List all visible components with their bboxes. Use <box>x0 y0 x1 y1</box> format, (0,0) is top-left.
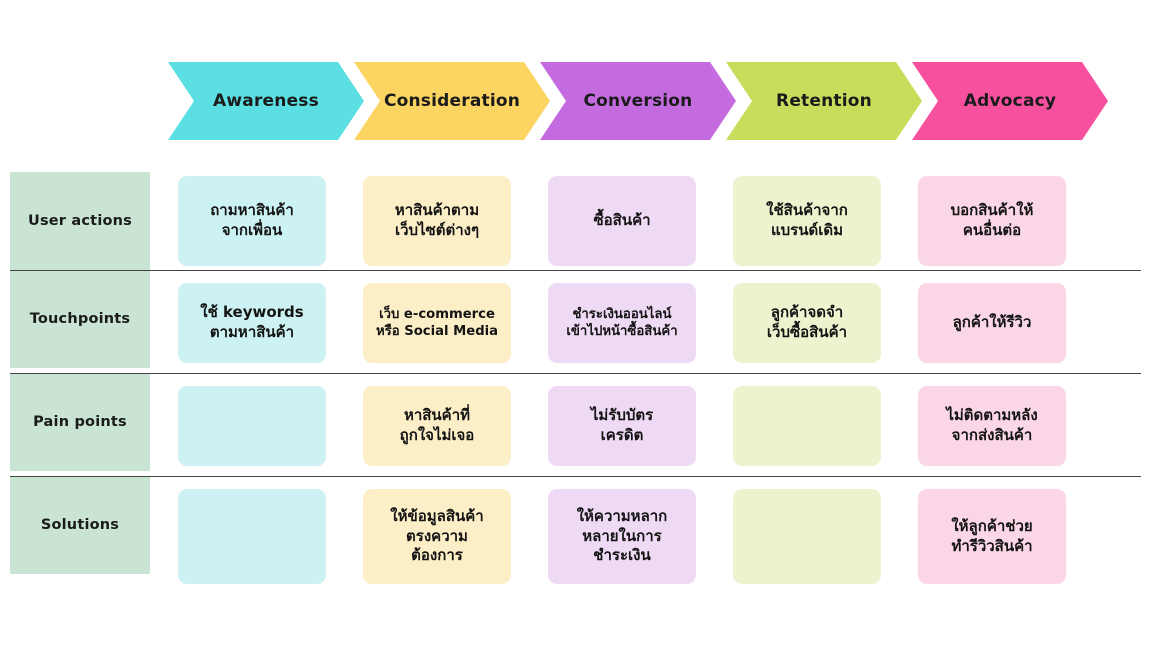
row-label-pain-points[interactable]: Pain points <box>10 373 150 471</box>
cell-solutions-awareness[interactable] <box>178 489 326 584</box>
cell-touchpoints-consideration[interactable]: เว็บ e-commerce หรือ Social Media <box>363 283 511 363</box>
cell-touchpoints-awareness[interactable]: ใช้ keywords ตามหาสินค้า <box>178 283 326 363</box>
stage-chevron-consideration[interactable]: Consideration <box>354 62 550 140</box>
stage-chevron-retention[interactable]: Retention <box>726 62 922 140</box>
stage-label: Awareness <box>213 91 319 111</box>
cell-text: ชำระเงินออนไลน์ เข้าไปหน้าซื้อสินค้า <box>566 306 677 341</box>
stage-label: Consideration <box>384 91 520 111</box>
cell-pain-points-consideration[interactable]: หาสินค้าที่ ถูกใจไม่เจอ <box>363 386 511 466</box>
cell-pain-points-conversion[interactable]: ไม่รับบัตร เครดิต <box>548 386 696 466</box>
stage-label: Advocacy <box>964 91 1056 111</box>
row-label-touchpoints[interactable]: Touchpoints <box>10 270 150 368</box>
cell-text: ใช้สินค้าจาก แบรนด์เดิม <box>766 201 848 241</box>
cell-pain-points-awareness[interactable] <box>178 386 326 466</box>
row-label-user-actions[interactable]: User actions <box>10 172 150 270</box>
cell-user-actions-awareness[interactable]: ถามหาสินค้า จากเพื่อน <box>178 176 326 266</box>
cell-solutions-retention[interactable] <box>733 489 881 584</box>
stage-chevron-awareness[interactable]: Awareness <box>168 62 364 140</box>
cell-user-actions-advocacy[interactable]: บอกสินค้าให้ คนอื่นต่อ <box>918 176 1066 266</box>
stage-label: Conversion <box>584 91 693 111</box>
stage-label: Retention <box>776 91 872 111</box>
row-label-text: User actions <box>28 213 132 229</box>
cell-text: ให้ข้อมูลสินค้า ตรงความ ต้องการ <box>390 507 483 566</box>
cell-text: ซื้อสินค้า <box>593 211 650 231</box>
cell-text: เว็บ e-commerce หรือ Social Media <box>376 306 498 341</box>
cell-text: ลูกค้าจดจำ เว็บซื้อสินค้า <box>767 303 847 343</box>
row-label-text: Touchpoints <box>30 311 131 327</box>
stage-chevron-conversion[interactable]: Conversion <box>540 62 736 140</box>
row-label-solutions[interactable]: Solutions <box>10 476 150 574</box>
cell-text: ไม่รับบัตร เครดิต <box>591 406 653 446</box>
cell-text: ใช้ keywords ตามหาสินค้า <box>200 303 303 343</box>
cell-text: ให้ลูกค้าช่วย ทำรีวิวสินค้า <box>951 517 1032 557</box>
cell-user-actions-consideration[interactable]: หาสินค้าตาม เว็บไซต์ต่างๆ <box>363 176 511 266</box>
row-label-text: Solutions <box>41 517 119 533</box>
cell-text: ไม่ติดตามหลัง จากส่งสินค้า <box>946 406 1037 446</box>
cell-pain-points-advocacy[interactable]: ไม่ติดตามหลัง จากส่งสินค้า <box>918 386 1066 466</box>
cell-touchpoints-retention[interactable]: ลูกค้าจดจำ เว็บซื้อสินค้า <box>733 283 881 363</box>
cell-touchpoints-advocacy[interactable]: ลูกค้าให้รีวิว <box>918 283 1066 363</box>
stage-chevron-advocacy[interactable]: Advocacy <box>912 62 1108 140</box>
cell-user-actions-retention[interactable]: ใช้สินค้าจาก แบรนด์เดิม <box>733 176 881 266</box>
cell-solutions-consideration[interactable]: ให้ข้อมูลสินค้า ตรงความ ต้องการ <box>363 489 511 584</box>
cell-pain-points-retention[interactable] <box>733 386 881 466</box>
journey-map-canvas: AwarenessConsiderationConversionRetentio… <box>0 0 1154 649</box>
stage-header-row: AwarenessConsiderationConversionRetentio… <box>168 62 1108 140</box>
row-label-text: Pain points <box>33 414 127 430</box>
row-divider-2 <box>10 476 1141 477</box>
cell-touchpoints-conversion[interactable]: ชำระเงินออนไลน์ เข้าไปหน้าซื้อสินค้า <box>548 283 696 363</box>
cell-text: หาสินค้าที่ ถูกใจไม่เจอ <box>400 406 475 446</box>
cell-text: ให้ความหลาก หลายในการ ชำระเงิน <box>577 507 668 566</box>
row-divider-0 <box>10 270 1141 271</box>
cell-text: ลูกค้าให้รีวิว <box>953 313 1032 333</box>
cell-solutions-conversion[interactable]: ให้ความหลาก หลายในการ ชำระเงิน <box>548 489 696 584</box>
row-divider-1 <box>10 373 1141 374</box>
cell-text: หาสินค้าตาม เว็บไซต์ต่างๆ <box>395 201 479 241</box>
cell-text: บอกสินค้าให้ คนอื่นต่อ <box>951 201 1034 241</box>
cell-solutions-advocacy[interactable]: ให้ลูกค้าช่วย ทำรีวิวสินค้า <box>918 489 1066 584</box>
cell-text: ถามหาสินค้า จากเพื่อน <box>210 201 294 241</box>
cell-user-actions-conversion[interactable]: ซื้อสินค้า <box>548 176 696 266</box>
